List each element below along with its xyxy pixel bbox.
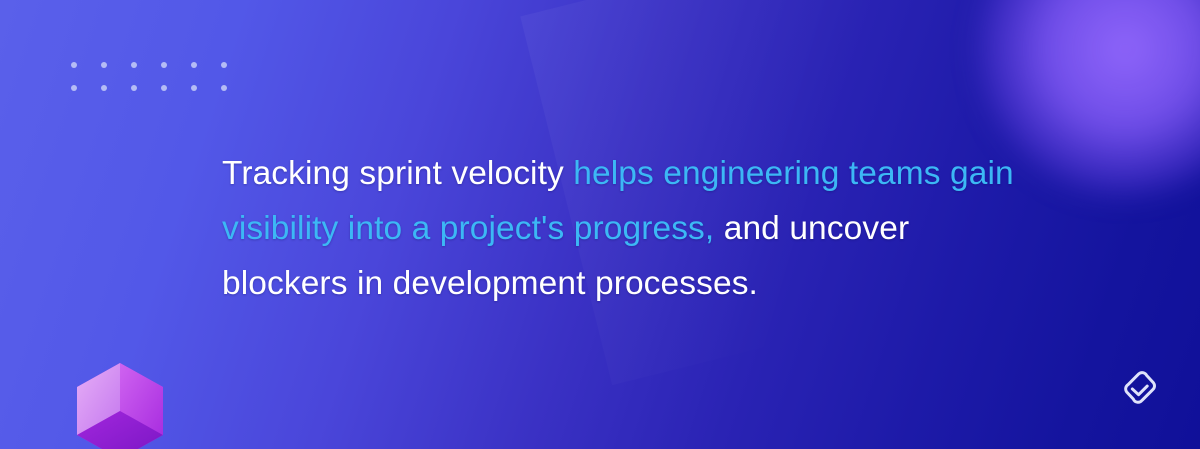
grid-dot (221, 85, 227, 91)
grid-dot (71, 62, 77, 68)
grid-dot (161, 85, 167, 91)
purple-cube-decoration (72, 359, 168, 449)
grid-dot (161, 62, 167, 68)
headline-segment-plain-start: Tracking sprint velocity (222, 155, 573, 192)
dot-grid-decoration (71, 62, 251, 108)
brand-logo-mark[interactable] (1117, 365, 1163, 411)
grid-dot (101, 85, 107, 91)
grid-dot (71, 85, 77, 91)
headline-text: Tracking sprint velocity helps engineeri… (222, 146, 1022, 311)
grid-dot (191, 85, 197, 91)
grid-dot (221, 62, 227, 68)
grid-dot (131, 62, 137, 68)
hero-banner: Tracking sprint velocity helps engineeri… (0, 0, 1200, 449)
grid-dot (131, 85, 137, 91)
grid-dot (101, 62, 107, 68)
grid-dot (191, 62, 197, 68)
